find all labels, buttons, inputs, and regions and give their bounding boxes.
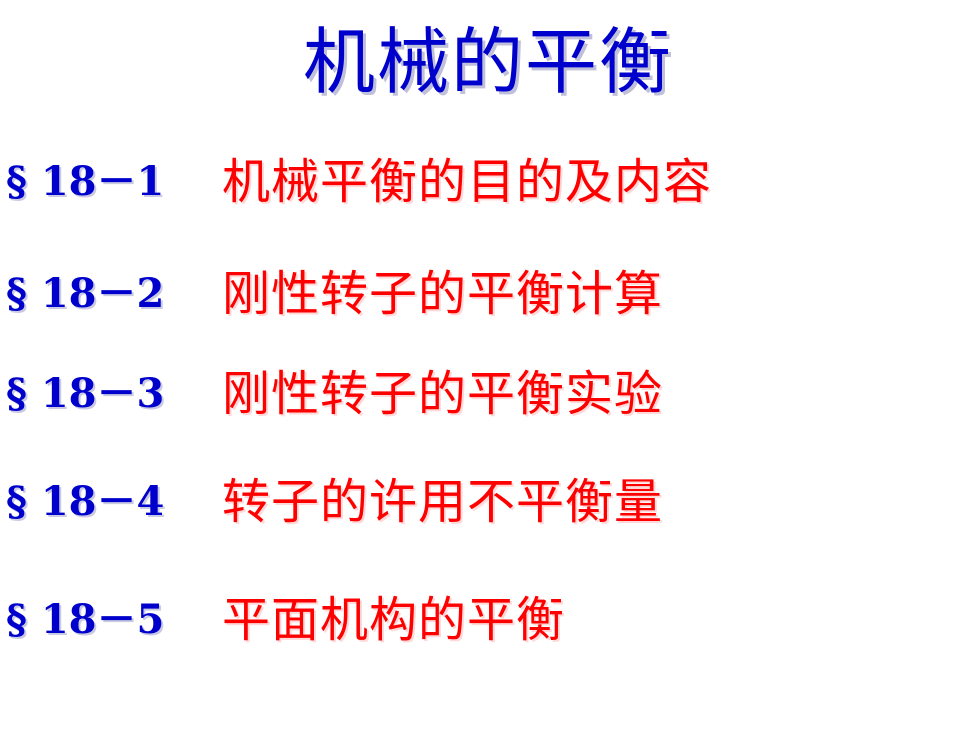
toc-item-18-3[interactable]: § 18－3 刚性转子的平衡实验 <box>0 362 976 426</box>
section-title: 刚性转子的平衡实验 <box>222 364 663 424</box>
page-title: 机械的平衡 <box>0 16 976 108</box>
section-marker: § 18－3 <box>0 366 222 422</box>
toc-item-18-4[interactable]: § 18－4 转子的许用不平衡量 <box>0 470 976 534</box>
toc-item-18-5[interactable]: § 18－5 平面机构的平衡 <box>0 588 976 652</box>
section-title: 刚性转子的平衡计算 <box>222 264 663 324</box>
toc-item-18-1[interactable]: § 18－1 机械平衡的目的及内容 <box>0 150 976 214</box>
slide-canvas: 机械的平衡 § 18－1 机械平衡的目的及内容 § 18－2 刚性转子的平衡计算… <box>0 0 976 732</box>
section-title: 平面机构的平衡 <box>222 590 565 650</box>
section-marker: § 18－1 <box>0 154 222 210</box>
toc-item-18-2[interactable]: § 18－2 刚性转子的平衡计算 <box>0 262 976 326</box>
section-marker: § 18－4 <box>0 474 222 530</box>
section-title: 机械平衡的目的及内容 <box>222 152 712 212</box>
section-marker: § 18－2 <box>0 266 222 322</box>
section-title: 转子的许用不平衡量 <box>222 472 663 532</box>
section-marker: § 18－5 <box>0 592 222 648</box>
